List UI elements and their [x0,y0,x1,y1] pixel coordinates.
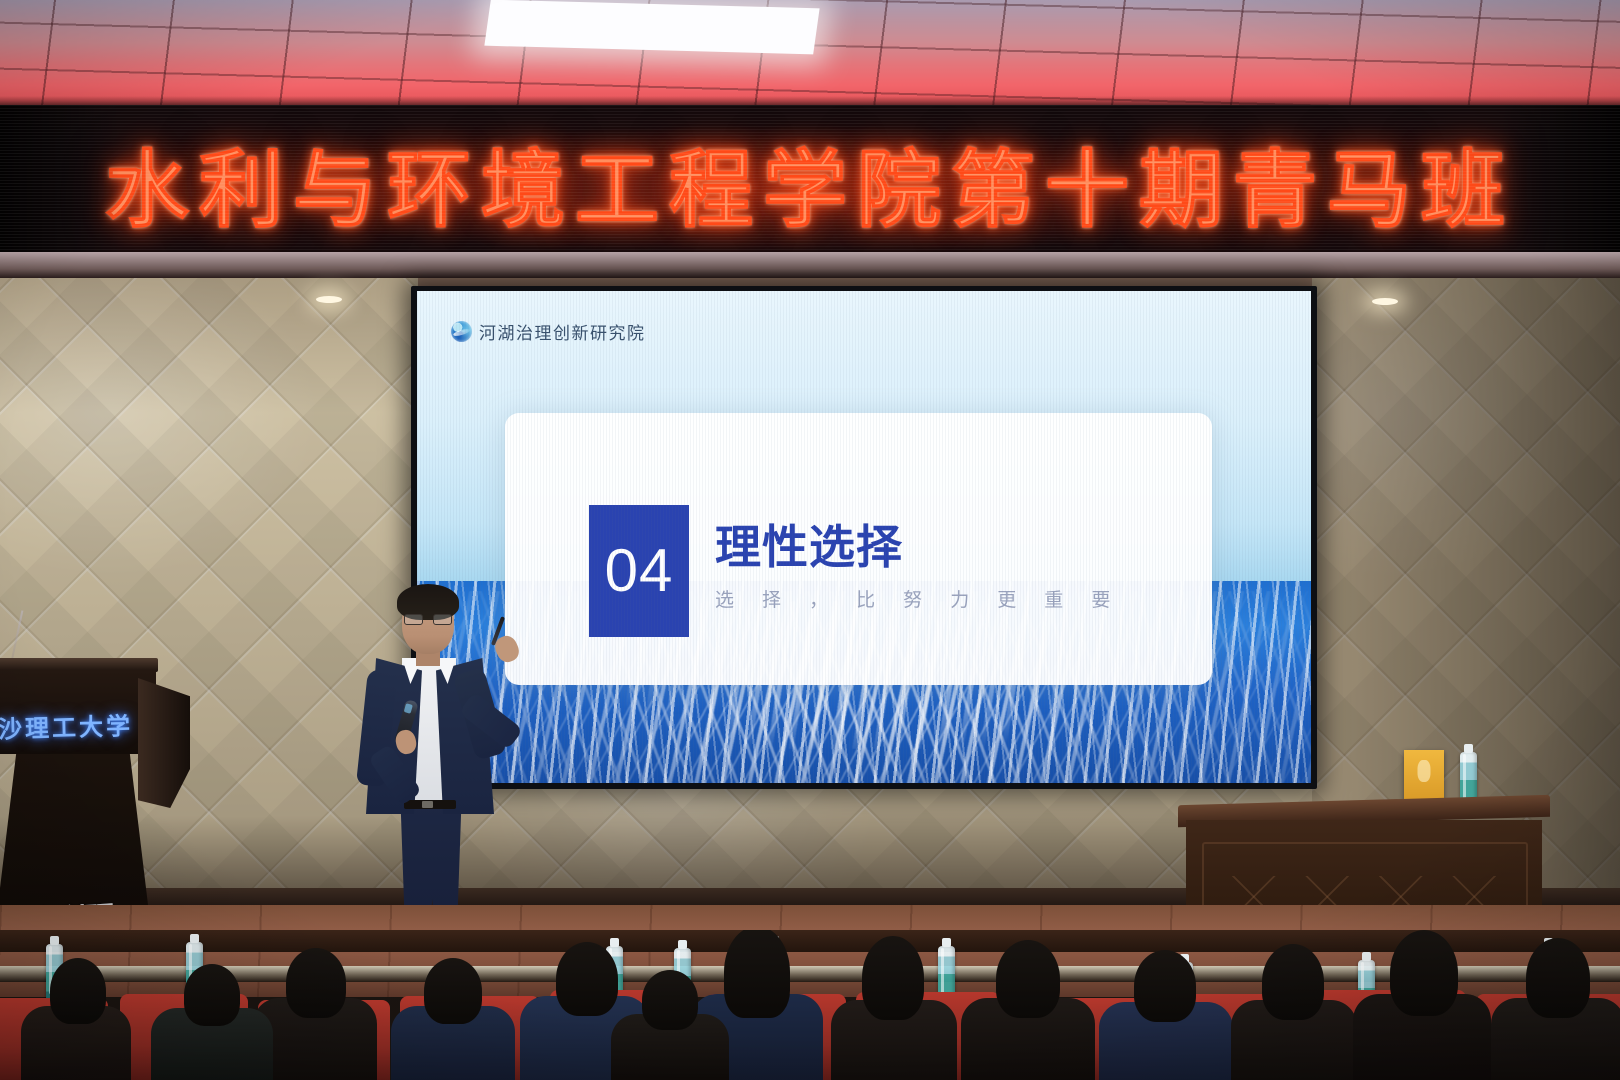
audience-head [862,936,924,1020]
led-banner-right-fade [1500,105,1620,257]
audience-head [1390,930,1458,1016]
slide-content-card: 04 理性选择 选 择 ， 比 努 力 更 重 要 [505,413,1212,685]
wall-cornice [0,252,1620,278]
projection-screen[interactable]: 河湖治理创新研究院 04 理性选择 选 择 ， 比 努 力 更 重 要 [411,286,1317,789]
audience-member [1352,932,1492,1080]
slide-section-number-box: 04 [589,505,689,637]
audience-head [50,958,106,1024]
audience-area [0,930,1620,1080]
audience-head [424,958,482,1024]
audience-member [1230,946,1358,1080]
audience-member [150,968,274,1080]
lectern-face: 沙理工大学 [0,670,156,754]
audience-member [960,942,1096,1080]
audience-member [610,976,730,1080]
institute-globe-icon [451,321,472,342]
slide-section-number: 04 [605,541,674,601]
spotlight-icon [1372,298,1398,305]
audience-head [642,970,698,1030]
audience-head [286,948,346,1018]
audience-member [1490,940,1620,1080]
audience-member [20,960,132,1080]
screen-surface: 河湖治理创新研究院 04 理性选择 选 择 ， 比 努 力 更 重 要 [417,291,1311,783]
lectern-university-text: 沙理工大学 [0,706,133,745]
lectern: 沙理工大学 水利研究 [0,658,170,938]
audience-head [556,942,618,1016]
slide-title: 理性选择 [715,523,1121,571]
audience-head [724,930,790,1018]
name-card [1404,750,1444,802]
auditorium-scene: 水利与环境工程学院第十期青马班 河湖治理创新研究院 [0,0,1620,1080]
slide-logo: 河湖治理创新研究院 [451,319,646,344]
audience-head [996,940,1060,1018]
slide-card-texts: 理性选择 选 择 ， 比 努 力 更 重 要 [715,505,1121,612]
eyeglasses-icon [404,614,452,625]
slide-subtitle: 选 择 ， 比 努 力 更 重 要 [715,585,1121,612]
audience-member [1098,952,1234,1080]
ceiling [0,0,1620,112]
speaker-belt [404,800,456,809]
audience-member [390,964,516,1080]
audience-head [1262,944,1324,1020]
led-banner-left-fade [0,105,120,257]
audience-head [1134,950,1196,1022]
slide-card-row: 04 理性选择 选 择 ， 比 努 力 更 重 要 [589,505,1121,637]
ceiling-light-panel [484,0,819,54]
audience-head [1526,938,1590,1018]
led-banner: 水利与环境工程学院第十期青马班 [0,105,1620,257]
audience-member [830,938,958,1080]
spotlight-icon [316,296,342,303]
slide-logo-text: 河湖治理创新研究院 [479,319,646,344]
led-banner-text: 水利与环境工程学院第十期青马班 [105,123,1515,244]
speaker-person [340,578,540,960]
audience-head [184,964,240,1026]
